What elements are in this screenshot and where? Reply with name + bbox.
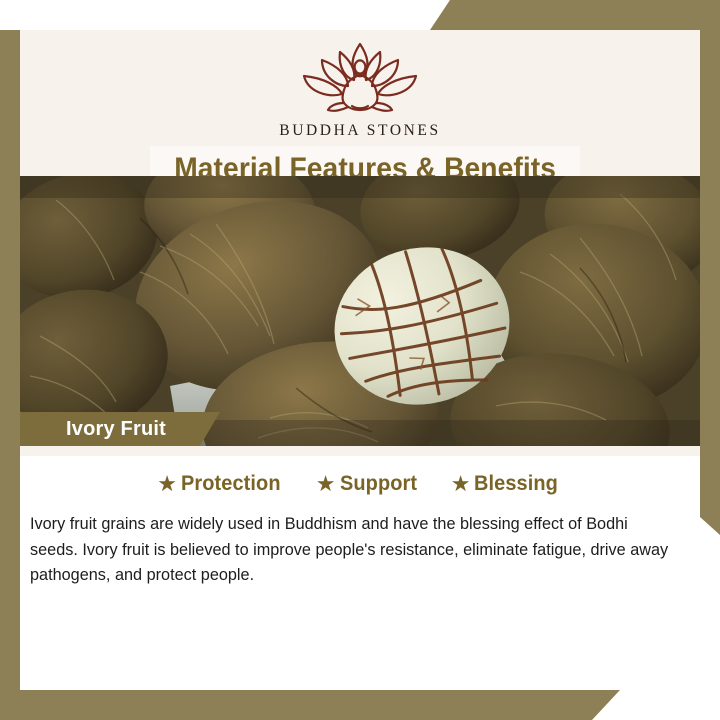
lotus-meditation-icon: [284, 36, 436, 120]
ivory-fruit-photo: Ivory Fruit: [20, 176, 700, 446]
benefit-label: Blessing: [474, 472, 558, 496]
star-icon: ★: [316, 473, 336, 495]
poster-header: BUDDHA STONES Material Features & Benefi…: [20, 30, 700, 176]
frame-accent-top: [430, 0, 720, 30]
poster-card: BUDDHA STONES Material Features & Benefi…: [20, 30, 700, 690]
content-top-strip: [20, 446, 700, 456]
photo-label-band: Ivory Fruit: [20, 412, 220, 446]
description-text: Ivory fruit grains are widely used in Bu…: [30, 512, 672, 589]
star-icon: ★: [451, 473, 471, 495]
benefit-item-protection: ★ Protection: [157, 472, 286, 496]
tagua-nuts-illustration: [20, 176, 700, 446]
benefit-label: Protection: [181, 472, 281, 496]
brand-wordmark: BUDDHA STONES: [279, 122, 440, 140]
material-features-poster: BUDDHA STONES Material Features & Benefi…: [0, 0, 720, 720]
frame-accent-bottom: [0, 690, 620, 720]
brand-logo: BUDDHA STONES: [20, 36, 700, 140]
frame-accent-left: [0, 30, 20, 690]
photo-label: Ivory Fruit: [66, 418, 166, 441]
benefit-item-support: ★ Support: [316, 472, 421, 496]
benefit-item-blessing: ★ Blessing: [451, 472, 563, 496]
frame-accent-right: [700, 30, 720, 535]
poster-content: ★ Protection ★ Support ★ Blessing Ivory …: [20, 446, 700, 690]
star-icon: ★: [157, 473, 177, 495]
benefit-label: Support: [340, 472, 417, 496]
